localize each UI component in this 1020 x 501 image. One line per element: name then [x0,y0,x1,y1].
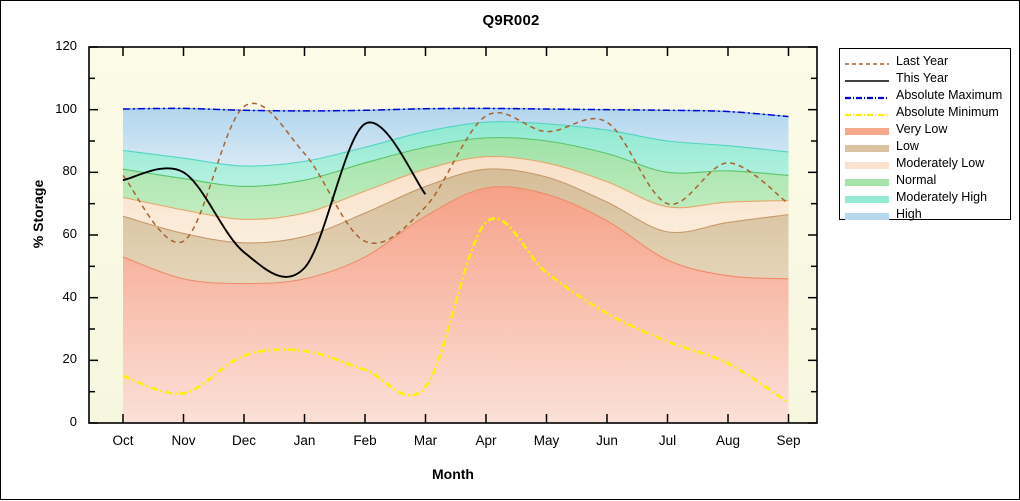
legend-swatch-icon [845,73,889,84]
legend-label: This Year [896,72,948,85]
legend-item-normal[interactable]: Normal [845,172,1005,189]
y-tick-label: 80 [37,163,77,178]
x-tick-label: Dec [214,433,274,448]
x-tick-label: Aug [698,433,758,448]
legend-swatch-icon [845,124,889,135]
legend-item-absolute-minimum[interactable]: Absolute Minimum [845,104,1005,121]
x-tick-label: May [517,433,577,448]
y-tick-label: 20 [37,351,77,366]
legend-item-moderately-low[interactable]: Moderately Low [845,155,1005,172]
x-tick-label: Sep [759,433,819,448]
legend-label: Absolute Minimum [896,106,999,119]
x-tick-label: Jan [275,433,335,448]
legend-swatch-icon [845,158,889,169]
x-tick-label: Nov [154,433,214,448]
legend-swatch-icon [845,175,889,186]
legend-swatch-icon [845,192,889,203]
x-tick-label: Oct [93,433,153,448]
y-tick-label: 0 [37,414,77,429]
legend-item-very-low[interactable]: Very Low [845,121,1005,138]
chart-window: Q9R002 % Storage Month [0,0,1020,500]
y-tick-label: 100 [37,101,77,116]
legend-label: High [896,208,922,221]
y-tick-label: 60 [37,226,77,241]
legend-label: Very Low [896,123,947,136]
legend-label: Normal [896,174,936,187]
legend-label: Low [896,140,919,153]
legend-item-this-year[interactable]: This Year [845,70,1005,87]
legend-swatch-icon [845,56,889,67]
percentile-bands [123,108,789,423]
legend-item-moderately-high[interactable]: Moderately High [845,189,1005,206]
legend-label: Absolute Maximum [896,89,1002,102]
legend-item-last-year[interactable]: Last Year [845,53,1005,70]
x-tick-label: Feb [335,433,395,448]
legend-swatch-icon [845,209,889,220]
x-tick-label: Apr [456,433,516,448]
y-tick-label: 120 [37,38,77,53]
legend-item-low[interactable]: Low [845,138,1005,155]
y-tick-label: 40 [37,289,77,304]
x-tick-label: Mar [396,433,456,448]
x-tick-label: Jul [638,433,698,448]
x-tick-label: Jun [577,433,637,448]
legend-label: Last Year [896,55,948,68]
legend-swatch-icon [845,107,889,118]
legend-label: Moderately Low [896,157,984,170]
legend-item-absolute-maximum[interactable]: Absolute Maximum [845,87,1005,104]
legend-swatch-icon [845,90,889,101]
legend-label: Moderately High [896,191,987,204]
legend-item-high[interactable]: High [845,206,1005,223]
legend[interactable]: Last YearThis YearAbsolute MaximumAbsolu… [839,48,1011,220]
legend-swatch-icon [845,141,889,152]
